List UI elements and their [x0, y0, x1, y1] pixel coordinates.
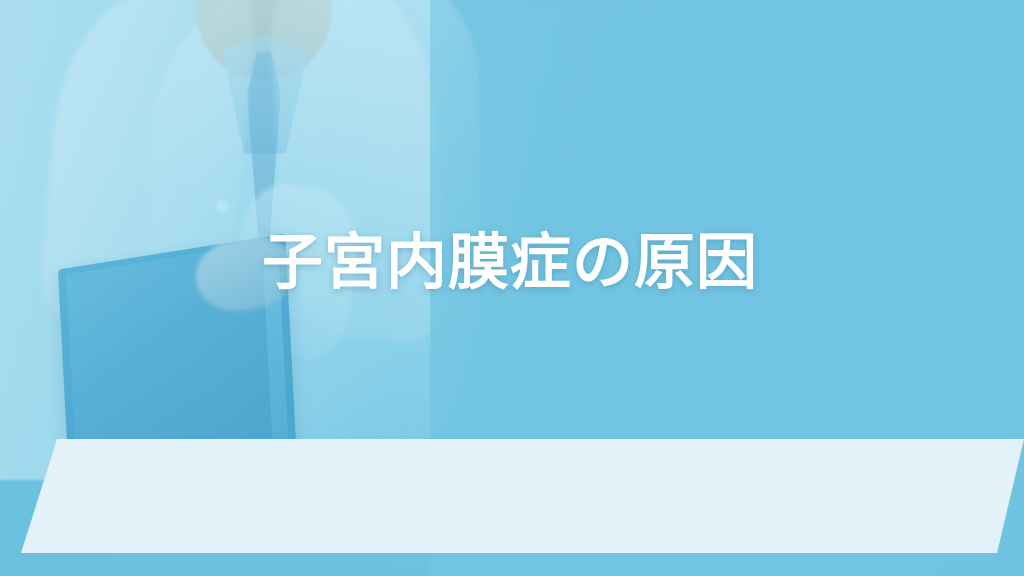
page-title: 子宮内膜症の原因	[262, 228, 758, 298]
slide-canvas: 子宮内膜症の原因 Medical DOC メディカルドック 監 修	[0, 0, 1024, 576]
credit-bar-content: Medical DOC メディカルドック 監 修 森 亘平	[0, 439, 1024, 553]
